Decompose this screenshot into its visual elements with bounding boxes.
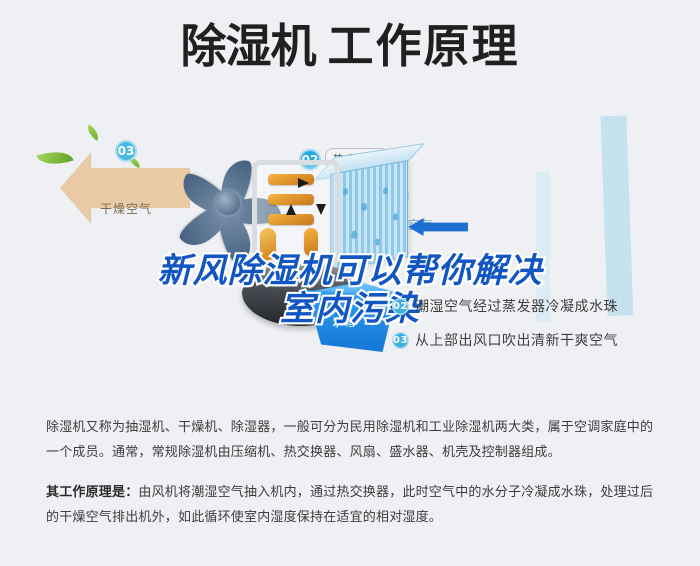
refrigerant-coil-assembly-icon [252, 160, 344, 270]
principle-lead: 其工作原理是： [46, 485, 138, 500]
compressor-ring-icon [250, 264, 352, 290]
infographic-page: 除湿机工作原理 干燥空气 03 02 01 潮湿空气 热交换器 [0, 0, 700, 566]
page-title: 除湿机工作原理 [0, 22, 700, 70]
step-text: 潮湿空气经过蒸发器冷凝成水珠 [415, 296, 618, 316]
process-step-list: 02 潮湿空气经过蒸发器冷凝成水珠 03 从上部出风口吹出清新干爽空气 [392, 296, 692, 364]
dry-air-label: 干燥空气 [100, 200, 152, 217]
list-item: 03 从上部出风口吹出清新干爽空气 [392, 330, 692, 350]
step-text: 从上部出风口吹出清新干爽空气 [415, 330, 618, 350]
step-number-badge: 02 [392, 298, 409, 315]
paragraph-definition: 除湿机又称为抽湿机、干燥机、除湿器，一般可分为民用除湿机和工业除湿机两大类，属于… [46, 415, 658, 466]
water-tank-label: 水箱 [332, 314, 356, 330]
body-copy: 除湿机又称为抽湿机、干燥机、除湿器，一般可分为民用除湿机和工业除湿机两大类，属于… [46, 415, 658, 544]
title-part-1: 除湿机 [181, 19, 316, 73]
step-number-badge: 03 [392, 332, 409, 349]
principle-rest: 由风机将潮湿空气抽入机内，通过热交换器，此时空气中的水分子冷凝成水珠，处理过后的… [46, 485, 653, 525]
paragraph-principle: 其工作原理是：由风机将潮湿空气抽入机内，通过热交换器，此时空气中的水分子冷凝成水… [46, 480, 658, 531]
leaf-icon [84, 124, 102, 141]
title-part-2: 工作原理 [328, 19, 520, 73]
list-item: 02 潮湿空气经过蒸发器冷凝成水珠 [392, 296, 692, 316]
leaf-icon [36, 145, 73, 171]
badge-step-03: 03 [115, 140, 137, 162]
